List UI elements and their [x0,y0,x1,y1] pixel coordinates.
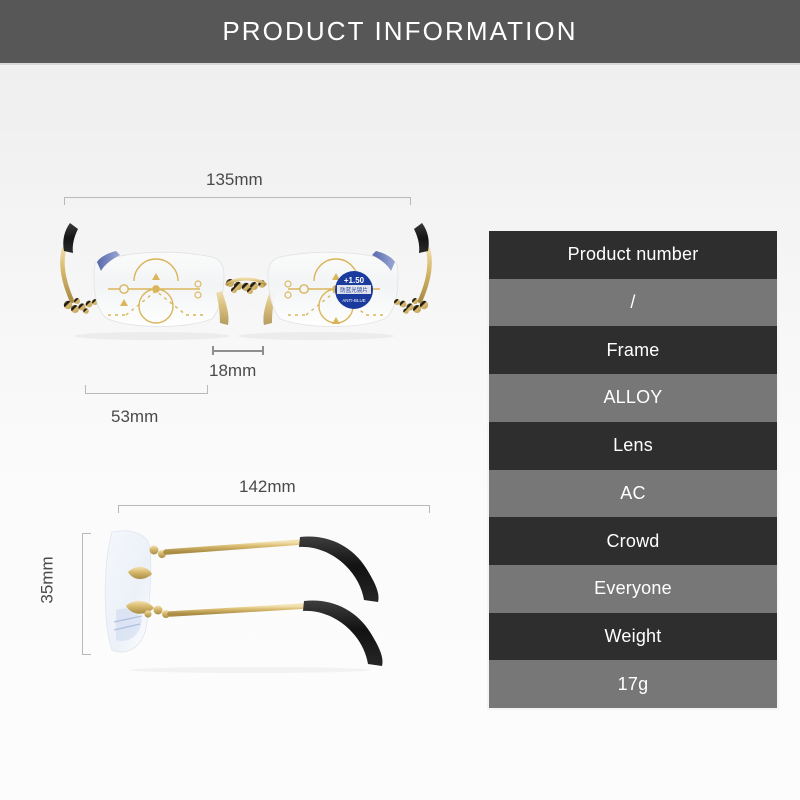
page-title: PRODUCT INFORMATION [222,16,577,47]
dimension-bracket-lens-width [85,385,208,394]
dimension-label-lens-height: 35mm [38,556,58,603]
svg-text:+1.50: +1.50 [344,276,365,285]
table-row: / [489,279,777,327]
table-row: Crowd [489,517,777,565]
eyeglasses-front-view-image: +1.50 防蓝光镜片 ANTI-BLUE [34,205,434,350]
dimension-bracket-total-width [64,197,411,205]
dimension-label-total-width: 135mm [206,170,263,190]
table-row: Weight [489,613,777,661]
product-spec-table: Product number / Frame ALLOY Lens AC Cro… [487,229,779,710]
dimension-cap-bridge-left [212,346,214,355]
product-information-page: PRODUCT INFORMATION 135mm [0,0,800,800]
dimension-bracket-bridge-width [212,350,264,352]
svg-text:ANTI-BLUE: ANTI-BLUE [342,298,366,303]
eyeglasses-side-view-image [70,510,450,675]
table-row: Lens [489,422,777,470]
table-row: ALLOY [489,374,777,422]
dimension-label-bridge-width: 18mm [209,361,256,381]
dimension-label-temple-length: 142mm [239,477,296,497]
table-row: Everyone [489,565,777,613]
header-bar: PRODUCT INFORMATION [0,0,800,63]
svg-text:防蓝光镜片: 防蓝光镜片 [340,286,368,294]
table-row: Product number [489,231,777,279]
dimension-cap-bridge-right [262,346,264,355]
lens-power-sticker: +1.50 防蓝光镜片 ANTI-BLUE [335,271,373,309]
table-row: AC [489,470,777,518]
dimension-label-lens-width: 53mm [111,407,158,427]
header-divider [0,63,800,65]
table-row: Frame [489,326,777,374]
table-row: 17g [489,660,777,708]
